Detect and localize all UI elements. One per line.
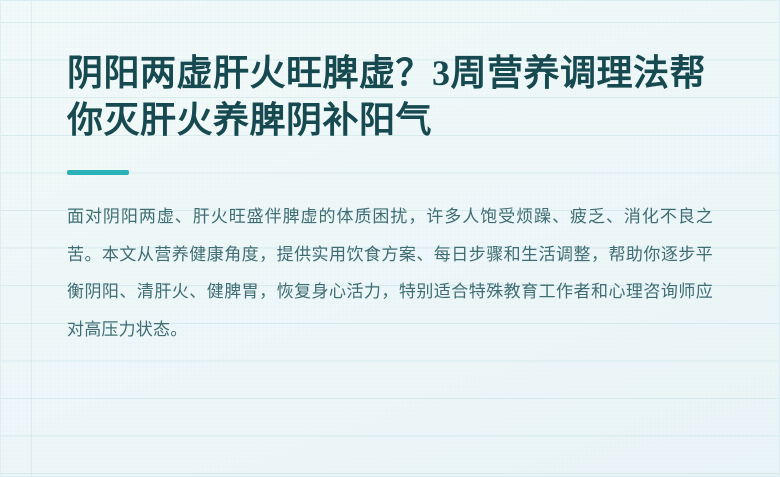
article-title: 阴阳两虚肝火旺脾虚？3周营养调理法帮你灭肝火养脾阴补阳气 [67, 1, 713, 144]
article-summary: 面对阴阳两虚、肝火旺盛伴脾虚的体质困扰，许多人饱受烦躁、疲乏、消化不良之苦。本文… [67, 175, 713, 348]
banner-content: 阴阳两虚肝火旺脾虚？3周营养调理法帮你灭肝火养脾阴补阳气 面对阴阳两虚、肝火旺盛… [1, 1, 779, 348]
article-hero-banner: 阴阳两虚肝火旺脾虚？3周营养调理法帮你灭肝火养脾阴补阳气 面对阴阳两虚、肝火旺盛… [0, 0, 780, 477]
